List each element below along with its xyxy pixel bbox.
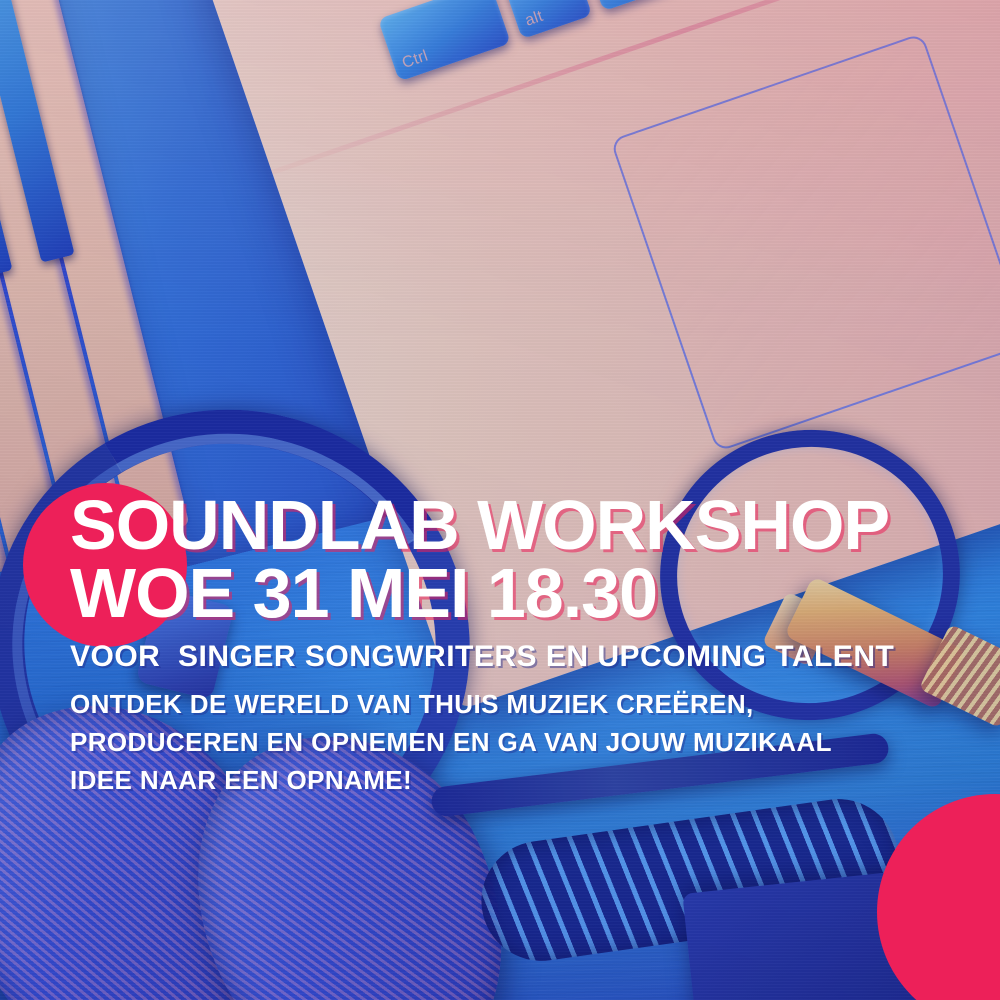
poster-text-block: SOUNDLAB WORKSHOP WOE 31 MEI 18.30 VOOR … [70, 495, 950, 800]
body-line: ONTDEK DE WERELD VAN THUIS MUZIEK CREËRE… [70, 686, 950, 724]
body-line: IDEE NAAR EEN OPNAME! [70, 762, 950, 800]
poster-canvas: X C V B Ctrl alt [0, 0, 1000, 1000]
headline-date: WOE 31 MEI 18.30 [70, 563, 950, 625]
body-copy: ONTDEK DE WERELD VAN THUIS MUZIEK CREËRE… [70, 686, 950, 800]
body-line: PRODUCEREN EN OPNEMEN EN GA VAN JOUW MUZ… [70, 724, 950, 762]
headline-title: SOUNDLAB WORKSHOP [70, 495, 950, 557]
tagline: VOOR SINGER SONGWRITERS EN UPCOMING TALE… [70, 642, 950, 672]
